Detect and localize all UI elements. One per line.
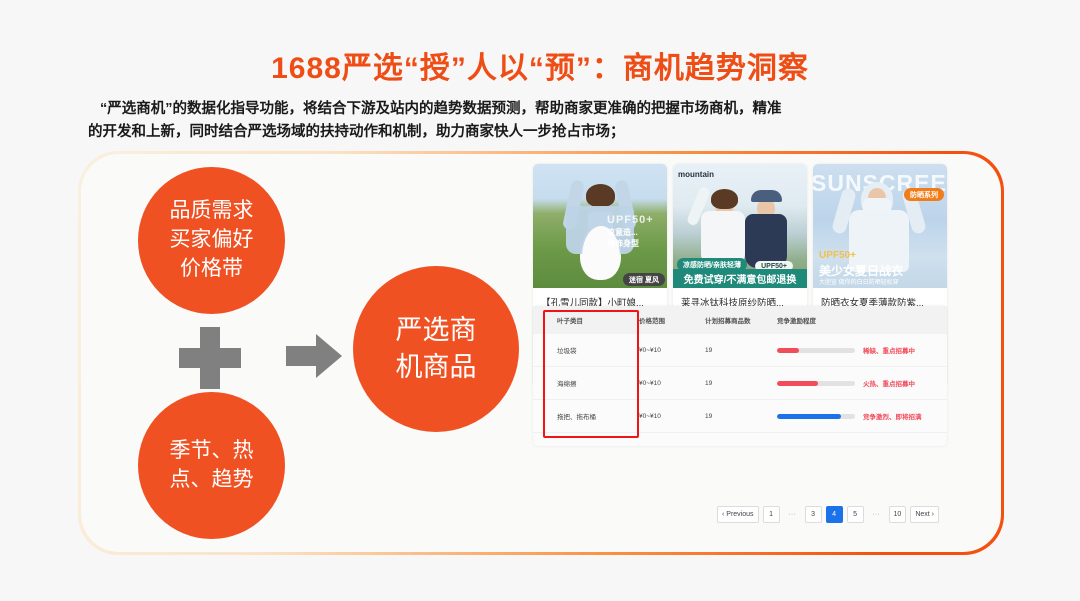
pagination-page-5[interactable]: 5 (847, 506, 864, 523)
page-title: 1688严选“授”人以“预”：商机趋势洞察 (0, 43, 1080, 87)
content-panel-inner: 品质需求 买家偏好 价格带 季节、热 点、趋势 (81, 154, 1001, 552)
image-promo-strip: 免费试穿/不满意包邮退换 (673, 269, 807, 288)
pagination-next[interactable]: Next › (910, 506, 939, 523)
image-corner-tag: 防晒系列 (904, 188, 944, 201)
bubble-top-line-1: 品质需求 (170, 197, 254, 226)
category-table-card: 叶子类目 价格范围 计划招募商品数 竞争激励程度 垃圾袋 ¥0~¥10 19 (533, 306, 947, 446)
table-row[interactable]: 海绵擦 ¥0~¥10 19 火热、重点招募中 (533, 367, 947, 400)
pagination-ellipsis-left: ··· (784, 506, 801, 523)
cell-category: 海绵擦 (533, 367, 639, 400)
bubble-main-line-1: 严选商 (396, 312, 477, 349)
subtitle-line-1: “严选商机”的数据化指导功能，将结合下游及站内的趋势数据预测，帮助商家更准确的把… (88, 98, 992, 121)
cell-competition: 火热、重点招募中 (777, 367, 947, 400)
col-header-count: 计划招募商品数 (705, 306, 777, 334)
bubble-season-trend: 季节、热 点、趋势 (138, 392, 285, 539)
table-header-row: 叶子类目 价格范围 计划招募商品数 竞争激励程度 (533, 306, 947, 334)
cell-category: 垃圾袋 (533, 334, 639, 367)
image-overlay-sub-2: 修饰身型 (607, 238, 639, 249)
competition-bar (777, 348, 855, 353)
product-image: SUNSCREEN 防晒系列 UPF50+ 美少女夏日战衣 大胆宣 做你的白日防… (813, 164, 947, 288)
image-corner-tag: 迷宿 夏风 (623, 273, 665, 286)
product-image: UPF50+ 凉意造... 修饰身型 迷宿 夏风 (533, 164, 667, 288)
cell-price: ¥0~¥10 (639, 400, 705, 433)
competition-status: 稀缺、重点招募中 (863, 345, 915, 355)
page-subtitle: “严选商机”的数据化指导功能，将结合下游及站内的趋势数据预测，帮助商家更准确的把… (88, 98, 992, 144)
image-overlay-sub-2: 大胆宣 做你的白日防晒轻松穿 (819, 277, 899, 286)
category-table: 叶子类目 价格范围 计划招募商品数 竞争激励程度 垃圾袋 ¥0~¥10 19 (533, 306, 947, 433)
competition-bar (777, 414, 855, 419)
competition-status: 竞争激烈、即将招满 (863, 411, 922, 421)
table-row[interactable]: 垃圾袋 ¥0~¥10 19 稀缺、重点招募中 (533, 334, 947, 367)
competition-bar (777, 381, 855, 386)
plus-icon (179, 327, 241, 389)
pagination-previous[interactable]: ‹ Previous (717, 506, 759, 523)
image-overlay-upf: UPF50+ (819, 250, 856, 261)
col-header-category: 叶子类目 (533, 306, 639, 334)
col-header-competition: 竞争激励程度 (777, 306, 947, 334)
competition-status: 火热、重点招募中 (863, 378, 915, 388)
cell-category: 拖把、拖布桶 (533, 400, 639, 433)
bubble-quality-demand: 品质需求 买家偏好 价格带 (138, 167, 285, 314)
bubble-bottom-line-1: 季节、热 (170, 437, 254, 466)
image-brand-label: mountain (678, 170, 714, 179)
arrow-right-icon (286, 332, 342, 380)
cell-competition: 竞争激烈、即将招满 (777, 400, 947, 433)
cell-price: ¥0~¥10 (639, 334, 705, 367)
content-panel: 品质需求 买家偏好 价格带 季节、热 点、趋势 (78, 151, 1004, 555)
cell-count: 19 (705, 334, 777, 367)
product-image: 凉感防晒/亲肤轻薄 UPF50+ mountain 免费试穿/不满意包邮退换 (673, 164, 807, 288)
cell-competition: 稀缺、重点招募中 (777, 334, 947, 367)
pagination-page-3[interactable]: 3 (805, 506, 822, 523)
cell-price: ¥0~¥10 (639, 367, 705, 400)
bubble-bottom-line-2: 点、趋势 (170, 466, 254, 495)
cell-count: 19 (705, 367, 777, 400)
image-overlay-upf: UPF50+ (607, 214, 667, 226)
bubble-selected-opportunity-product: 严选商 机商品 (353, 266, 519, 432)
col-header-price: 价格范围 (639, 306, 705, 334)
slide-root: 1688严选“授”人以“预”：商机趋势洞察 “严选商机”的数据化指导功能，将结合… (0, 0, 1080, 601)
pagination-page-4[interactable]: 4 (826, 506, 843, 523)
pagination-page-10[interactable]: 10 (889, 506, 907, 523)
bubble-top-line-3: 价格带 (170, 255, 254, 284)
table-row[interactable]: 拖把、拖布桶 ¥0~¥10 19 竞争激烈、即将招满 (533, 400, 947, 433)
pagination: ‹ Previous 1 ··· 3 4 5 ··· 10 Next › (533, 506, 947, 523)
pagination-ellipsis-right: ··· (868, 506, 885, 523)
cell-count: 19 (705, 400, 777, 433)
pagination-page-1[interactable]: 1 (763, 506, 780, 523)
bubble-top-line-2: 买家偏好 (170, 226, 254, 255)
subtitle-line-2: 的开发和上新，同时结合严选场域的扶持动作和机制，助力商家快人一步抢占市场； (88, 121, 992, 144)
image-overlay-sub-1: 凉意造... (607, 227, 638, 238)
bubble-main-line-2: 机商品 (396, 349, 477, 386)
